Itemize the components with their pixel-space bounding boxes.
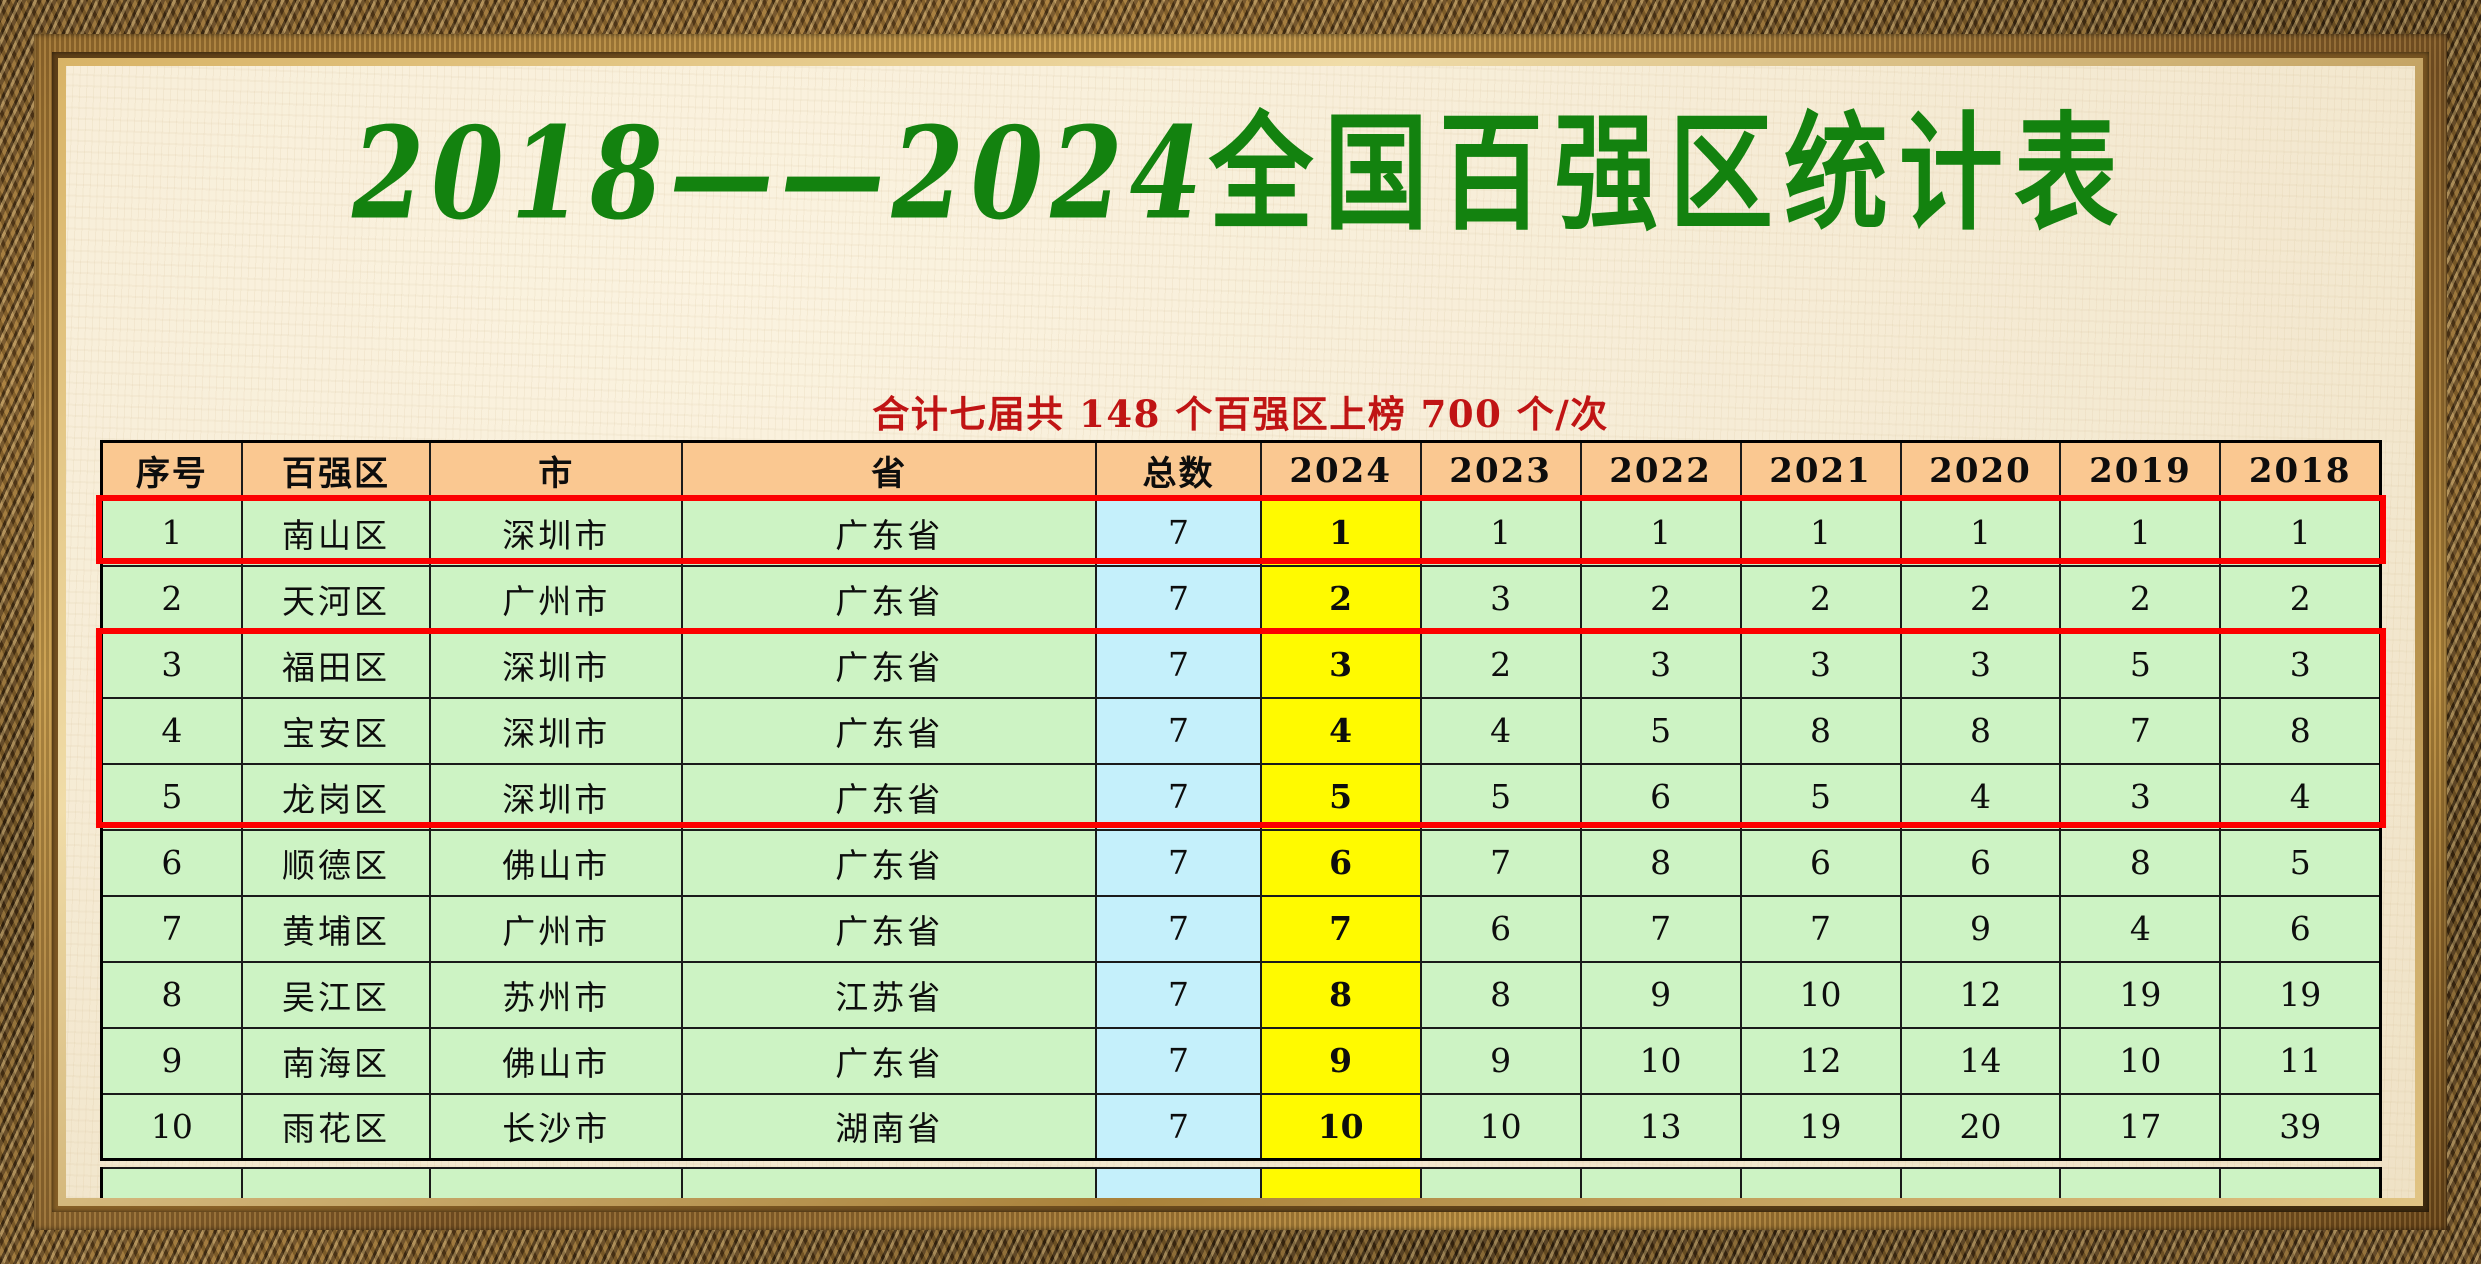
statistics-table-wrapper: 序号 百强区 市 省 总数 2024 2023 2022 2021 2020 2… bbox=[100, 440, 2382, 1161]
cell-2022: 5 bbox=[1581, 698, 1741, 764]
cell-blank bbox=[242, 1168, 430, 1198]
cell-2019: 3 bbox=[2060, 764, 2220, 830]
cell-2023: 6 bbox=[1421, 896, 1581, 962]
document-canvas: 2018——2024全国百强区统计表 合计七届共 148 个百强区上榜 700 … bbox=[66, 66, 2415, 1198]
column-header-2024[interactable]: 2024 bbox=[1261, 442, 1421, 500]
cell-blank bbox=[1581, 1168, 1741, 1198]
column-header-city[interactable]: 市 bbox=[430, 442, 682, 500]
cell-index: 6 bbox=[102, 830, 242, 896]
title-dash: —— bbox=[669, 104, 891, 244]
title-year-end: 2024 bbox=[891, 104, 1208, 244]
cell-blank bbox=[102, 1168, 242, 1198]
cell-area: 龙岗区 bbox=[242, 764, 430, 830]
cell-2020: 2 bbox=[1901, 566, 2061, 632]
cell-area: 福田区 bbox=[242, 632, 430, 698]
cell-2020: 4 bbox=[1901, 764, 2061, 830]
cell-city: 深圳市 bbox=[430, 698, 682, 764]
cell-2021: 2 bbox=[1741, 566, 1901, 632]
cell-area: 天河区 bbox=[242, 566, 430, 632]
cell-2023: 3 bbox=[1421, 566, 1581, 632]
cell-2024: 8 bbox=[1261, 962, 1421, 1028]
cell-total: 7 bbox=[1096, 500, 1260, 566]
column-header-2021[interactable]: 2021 bbox=[1741, 442, 1901, 500]
table-row[interactable]: 1南山区深圳市广东省71111111 bbox=[102, 500, 2381, 566]
table-row-partial-clipped bbox=[100, 1167, 2382, 1198]
table-row[interactable]: 4宝安区深圳市广东省74458878 bbox=[102, 698, 2381, 764]
cell-province: 广东省 bbox=[682, 1028, 1096, 1094]
cell-city: 佛山市 bbox=[430, 830, 682, 896]
cell-2024: 3 bbox=[1261, 632, 1421, 698]
column-header-2023[interactable]: 2023 bbox=[1421, 442, 1581, 500]
cell-area: 黄埔区 bbox=[242, 896, 430, 962]
cell-2019: 4 bbox=[2060, 896, 2220, 962]
cell-2018: 39 bbox=[2220, 1094, 2380, 1160]
cell-blank bbox=[2220, 1168, 2380, 1198]
cell-total: 7 bbox=[1096, 698, 1260, 764]
cell-2019: 1 bbox=[2060, 500, 2220, 566]
cell-index: 10 bbox=[102, 1094, 242, 1160]
cell-2018: 8 bbox=[2220, 698, 2380, 764]
cell-province: 江苏省 bbox=[682, 962, 1096, 1028]
column-header-area[interactable]: 百强区 bbox=[242, 442, 430, 500]
cell-2023: 10 bbox=[1421, 1094, 1581, 1160]
cell-index: 9 bbox=[102, 1028, 242, 1094]
cell-city: 深圳市 bbox=[430, 764, 682, 830]
cell-2022: 10 bbox=[1581, 1028, 1741, 1094]
column-header-2022[interactable]: 2022 bbox=[1581, 442, 1741, 500]
cell-total: 7 bbox=[1096, 1028, 1260, 1094]
cell-blank bbox=[1261, 1168, 1421, 1198]
cell-area: 吴江区 bbox=[242, 962, 430, 1028]
cell-2018: 5 bbox=[2220, 830, 2380, 896]
cell-2023: 5 bbox=[1421, 764, 1581, 830]
cell-2022: 8 bbox=[1581, 830, 1741, 896]
statistics-table: 序号 百强区 市 省 总数 2024 2023 2022 2021 2020 2… bbox=[100, 440, 2382, 1161]
cell-province: 广东省 bbox=[682, 830, 1096, 896]
table-row[interactable]: 10雨花区长沙市湖南省710101319201739 bbox=[102, 1094, 2381, 1160]
cell-2021: 5 bbox=[1741, 764, 1901, 830]
cell-2021: 10 bbox=[1741, 962, 1901, 1028]
cell-2018: 4 bbox=[2220, 764, 2380, 830]
cell-blank bbox=[1901, 1168, 2061, 1198]
cell-total: 7 bbox=[1096, 896, 1260, 962]
cell-blank bbox=[1741, 1168, 1901, 1198]
table-row[interactable]: 2天河区广州市广东省72322222 bbox=[102, 566, 2381, 632]
cell-province: 广东省 bbox=[682, 566, 1096, 632]
cell-2022: 7 bbox=[1581, 896, 1741, 962]
table-row[interactable]: 8吴江区苏州市江苏省788910121919 bbox=[102, 962, 2381, 1028]
cell-index: 3 bbox=[102, 632, 242, 698]
cell-2023: 1 bbox=[1421, 500, 1581, 566]
cell-2019: 17 bbox=[2060, 1094, 2220, 1160]
cell-2021: 7 bbox=[1741, 896, 1901, 962]
cell-area: 顺德区 bbox=[242, 830, 430, 896]
title-chinese-text: 全国百强区统计表 bbox=[1209, 104, 2129, 244]
cell-2024: 2 bbox=[1261, 566, 1421, 632]
cell-2024: 1 bbox=[1261, 500, 1421, 566]
cell-2022: 6 bbox=[1581, 764, 1741, 830]
cell-2022: 9 bbox=[1581, 962, 1741, 1028]
cell-index: 1 bbox=[102, 500, 242, 566]
cell-2024: 6 bbox=[1261, 830, 1421, 896]
column-header-province[interactable]: 省 bbox=[682, 442, 1096, 500]
cell-2018: 19 bbox=[2220, 962, 2380, 1028]
column-header-2020[interactable]: 2020 bbox=[1901, 442, 2061, 500]
cell-city: 深圳市 bbox=[430, 500, 682, 566]
cell-blank bbox=[2060, 1168, 2220, 1198]
cell-2024: 4 bbox=[1261, 698, 1421, 764]
cell-2020: 20 bbox=[1901, 1094, 2061, 1160]
cell-2023: 9 bbox=[1421, 1028, 1581, 1094]
cell-city: 长沙市 bbox=[430, 1094, 682, 1160]
cell-2021: 19 bbox=[1741, 1094, 1901, 1160]
cell-index: 4 bbox=[102, 698, 242, 764]
cell-total: 7 bbox=[1096, 764, 1260, 830]
cell-area: 南山区 bbox=[242, 500, 430, 566]
cell-index: 7 bbox=[102, 896, 242, 962]
cell-2019: 10 bbox=[2060, 1028, 2220, 1094]
cell-index: 5 bbox=[102, 764, 242, 830]
cell-2024: 10 bbox=[1261, 1094, 1421, 1160]
cell-province: 广东省 bbox=[682, 896, 1096, 962]
cell-2018: 6 bbox=[2220, 896, 2380, 962]
cell-2019: 2 bbox=[2060, 566, 2220, 632]
cell-2023: 4 bbox=[1421, 698, 1581, 764]
cell-index: 2 bbox=[102, 566, 242, 632]
table-row[interactable]: 9南海区佛山市广东省7991012141011 bbox=[102, 1028, 2381, 1094]
cell-city: 广州市 bbox=[430, 566, 682, 632]
cell-city: 佛山市 bbox=[430, 1028, 682, 1094]
cell-2022: 2 bbox=[1581, 566, 1741, 632]
cell-2022: 13 bbox=[1581, 1094, 1741, 1160]
cell-province: 广东省 bbox=[682, 500, 1096, 566]
cell-2019: 19 bbox=[2060, 962, 2220, 1028]
table-row[interactable]: 6顺德区佛山市广东省76786685 bbox=[102, 830, 2381, 896]
cell-area: 南海区 bbox=[242, 1028, 430, 1094]
title-year-start: 2018 bbox=[352, 104, 669, 244]
column-header-index[interactable]: 序号 bbox=[102, 442, 242, 500]
cell-2022: 3 bbox=[1581, 632, 1741, 698]
cell-2022: 1 bbox=[1581, 500, 1741, 566]
cell-total: 7 bbox=[1096, 632, 1260, 698]
cell-2020: 3 bbox=[1901, 632, 2061, 698]
table-row[interactable]: 5龙岗区深圳市广东省75565434 bbox=[102, 764, 2381, 830]
cell-blank bbox=[430, 1168, 682, 1198]
cell-total: 7 bbox=[1096, 1094, 1260, 1160]
cell-province: 广东省 bbox=[682, 632, 1096, 698]
cell-2018: 11 bbox=[2220, 1028, 2380, 1094]
cell-2020: 12 bbox=[1901, 962, 2061, 1028]
cell-2019: 5 bbox=[2060, 632, 2220, 698]
cell-city: 广州市 bbox=[430, 896, 682, 962]
cell-province: 湖南省 bbox=[682, 1094, 1096, 1160]
table-row[interactable]: 3福田区深圳市广东省73233353 bbox=[102, 632, 2381, 698]
cell-2024: 9 bbox=[1261, 1028, 1421, 1094]
cell-blank bbox=[1096, 1168, 1260, 1198]
cell-2024: 7 bbox=[1261, 896, 1421, 962]
table-header-row: 序号 百强区 市 省 总数 2024 2023 2022 2021 2020 2… bbox=[102, 442, 2381, 500]
cell-province: 广东省 bbox=[682, 764, 1096, 830]
cell-2018: 3 bbox=[2220, 632, 2380, 698]
cell-2023: 8 bbox=[1421, 962, 1581, 1028]
cell-area: 雨花区 bbox=[242, 1094, 430, 1160]
column-header-total[interactable]: 总数 bbox=[1096, 442, 1260, 500]
cell-index: 8 bbox=[102, 962, 242, 1028]
cell-2020: 1 bbox=[1901, 500, 2061, 566]
cell-total: 7 bbox=[1096, 830, 1260, 896]
cell-2020: 14 bbox=[1901, 1028, 2061, 1094]
cell-2021: 3 bbox=[1741, 632, 1901, 698]
cell-2020: 9 bbox=[1901, 896, 2061, 962]
table-body: 1南山区深圳市广东省711111112天河区广州市广东省723222223福田区… bbox=[102, 500, 2381, 1160]
cell-2023: 7 bbox=[1421, 830, 1581, 896]
column-header-2018[interactable]: 2018 bbox=[2220, 442, 2380, 500]
cell-blank bbox=[1421, 1168, 1581, 1198]
cell-2021: 12 bbox=[1741, 1028, 1901, 1094]
cell-province: 广东省 bbox=[682, 698, 1096, 764]
cell-2021: 8 bbox=[1741, 698, 1901, 764]
cell-total: 7 bbox=[1096, 962, 1260, 1028]
cell-2023: 2 bbox=[1421, 632, 1581, 698]
cell-2020: 6 bbox=[1901, 830, 2061, 896]
cell-2020: 8 bbox=[1901, 698, 2061, 764]
cell-2021: 6 bbox=[1741, 830, 1901, 896]
cell-city: 苏州市 bbox=[430, 962, 682, 1028]
cell-city: 深圳市 bbox=[430, 632, 682, 698]
page-title: 2018——2024全国百强区统计表 bbox=[66, 104, 2415, 218]
cell-2024: 5 bbox=[1261, 764, 1421, 830]
cell-2021: 1 bbox=[1741, 500, 1901, 566]
cell-2019: 8 bbox=[2060, 830, 2220, 896]
picture-frame: 2018——2024全国百强区统计表 合计七届共 148 个百强区上榜 700 … bbox=[0, 0, 2481, 1264]
cell-area: 宝安区 bbox=[242, 698, 430, 764]
cell-2019: 7 bbox=[2060, 698, 2220, 764]
cell-2018: 1 bbox=[2220, 500, 2380, 566]
cell-blank bbox=[682, 1168, 1096, 1198]
subtitle: 合计七届共 148 个百强区上榜 700 个/次 bbox=[66, 384, 2415, 438]
cell-2018: 2 bbox=[2220, 566, 2380, 632]
table-row[interactable]: 7黄埔区广州市广东省77677946 bbox=[102, 896, 2381, 962]
column-header-2019[interactable]: 2019 bbox=[2060, 442, 2220, 500]
cell-total: 7 bbox=[1096, 566, 1260, 632]
